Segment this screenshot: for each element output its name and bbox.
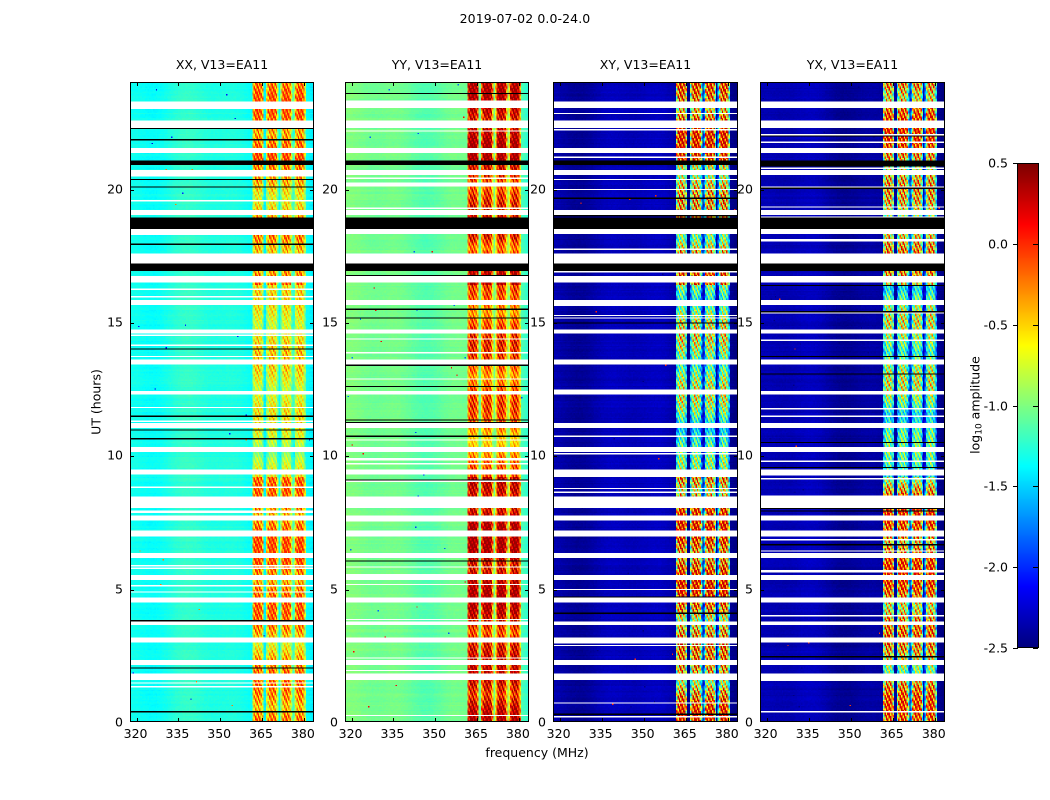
x-tick-top <box>519 82 520 86</box>
x-tick-top <box>435 82 436 86</box>
x-tick <box>935 718 936 722</box>
x-tick <box>686 718 687 722</box>
y-tick-right <box>310 590 314 591</box>
x-tick <box>519 718 520 722</box>
dynamic-spectrum-xy <box>554 83 737 721</box>
colorbar-tick-label: -0.5 <box>984 317 1008 332</box>
x-tick <box>178 718 179 722</box>
x-tick-top <box>767 82 768 86</box>
x-tick <box>602 718 603 722</box>
colorbar-tick-inner <box>1033 567 1038 568</box>
x-tick-top <box>686 82 687 86</box>
y-tick <box>760 456 764 457</box>
y-tick <box>553 456 557 457</box>
x-tick-top <box>602 82 603 86</box>
y-tick-right <box>941 456 945 457</box>
colorbar-tick-label: -1.5 <box>984 479 1008 494</box>
y-tick <box>130 456 134 457</box>
y-tick-label: 20 <box>107 181 123 196</box>
x-tick-label: 350 <box>631 726 655 741</box>
y-tick <box>130 323 134 324</box>
colorbar-tick <box>1013 325 1018 326</box>
x-tick-label: 365 <box>249 726 273 741</box>
y-tick-label: 0 <box>115 715 123 730</box>
x-tick-label: 335 <box>589 726 613 741</box>
y-tick <box>345 590 349 591</box>
y-tick-right <box>941 190 945 191</box>
y-tick-label: 0 <box>330 715 338 730</box>
x-tick-top <box>644 82 645 86</box>
x-tick-label: 320 <box>547 726 571 741</box>
x-tick-top <box>809 82 810 86</box>
y-tick-label: 5 <box>745 581 753 596</box>
y-tick-label: 20 <box>322 181 338 196</box>
x-tick <box>262 718 263 722</box>
colorbar-tick <box>1013 567 1018 568</box>
panel-title-yy: YY, V13=EA11 <box>345 57 529 72</box>
panel-xx[interactable]: XX, V13=EA1132033535036538005101520 <box>130 82 314 722</box>
x-tick-top <box>935 82 936 86</box>
x-tick <box>644 718 645 722</box>
x-tick-top <box>851 82 852 86</box>
x-tick <box>393 718 394 722</box>
y-tick <box>130 190 134 191</box>
x-tick <box>893 718 894 722</box>
x-tick <box>137 718 138 722</box>
y-tick-right <box>941 323 945 324</box>
panel-plot-area-xx <box>130 82 314 722</box>
y-tick-right <box>310 456 314 457</box>
y-tick-right <box>310 323 314 324</box>
y-tick-label: 15 <box>322 315 338 330</box>
x-tick <box>767 718 768 722</box>
y-tick-label: 10 <box>107 448 123 463</box>
y-tick-label: 0 <box>538 715 546 730</box>
colorbar-label-tail: amplitude <box>968 356 983 423</box>
x-tick <box>477 718 478 722</box>
panel-plot-area-yx <box>760 82 945 722</box>
y-tick-label: 20 <box>530 181 546 196</box>
x-tick <box>809 718 810 722</box>
x-tick-top <box>178 82 179 86</box>
x-tick-top <box>560 82 561 86</box>
y-tick-right <box>525 456 529 457</box>
colorbar-label-main: log <box>968 435 983 454</box>
y-tick-label: 5 <box>538 581 546 596</box>
y-tick <box>553 323 557 324</box>
colorbar-tick-inner <box>1033 244 1038 245</box>
panel-title-yx: YX, V13=EA11 <box>760 57 945 72</box>
y-tick-label: 0 <box>745 715 753 730</box>
y-tick-right <box>525 590 529 591</box>
y-tick-label: 5 <box>330 581 338 596</box>
panel-title-xy: XY, V13=EA11 <box>553 57 738 72</box>
x-tick-label: 335 <box>165 726 189 741</box>
y-axis-label: UT (hours) <box>89 369 104 435</box>
x-tick <box>304 718 305 722</box>
y-tick-label: 20 <box>737 181 753 196</box>
x-tick-top <box>137 82 138 86</box>
x-tick-label: 365 <box>673 726 697 741</box>
figure-title: 2019-07-02 0.0-24.0 <box>0 11 1050 26</box>
dynamic-spectrum-yx <box>761 83 944 721</box>
y-tick-label: 10 <box>530 448 546 463</box>
x-tick-label: 380 <box>715 726 739 741</box>
x-tick-label: 320 <box>124 726 148 741</box>
figure-canvas: 2019-07-02 0.0-24.0 UT (hours) frequency… <box>0 0 1050 800</box>
y-tick <box>760 323 764 324</box>
x-tick <box>560 718 561 722</box>
colorbar-tick <box>1013 406 1018 407</box>
x-tick-top <box>262 82 263 86</box>
x-tick-label: 365 <box>880 726 904 741</box>
x-tick-label: 380 <box>922 726 946 741</box>
y-tick <box>553 190 557 191</box>
dynamic-spectrum-yy <box>346 83 528 721</box>
y-tick-label: 15 <box>107 315 123 330</box>
x-tick-top <box>477 82 478 86</box>
y-tick-label: 15 <box>737 315 753 330</box>
y-tick-right <box>941 590 945 591</box>
y-tick <box>345 323 349 324</box>
x-tick-label: 380 <box>506 726 530 741</box>
colorbar-tick <box>1013 486 1018 487</box>
x-tick <box>435 718 436 722</box>
x-tick-top <box>893 82 894 86</box>
x-tick-top <box>352 82 353 86</box>
y-tick-right <box>525 323 529 324</box>
x-tick <box>352 718 353 722</box>
x-tick-label: 350 <box>838 726 862 741</box>
x-tick <box>851 718 852 722</box>
panel-yx[interactable]: YX, V13=EA1132033535036538005101520 <box>760 82 945 722</box>
x-tick <box>220 718 221 722</box>
y-tick <box>760 190 764 191</box>
x-tick-label: 380 <box>291 726 315 741</box>
x-tick-top <box>304 82 305 86</box>
colorbar-label: log10 amplitude <box>968 356 983 454</box>
y-tick-right <box>310 190 314 191</box>
panel-yy[interactable]: YY, V13=EA1132033535036538005101520 <box>345 82 529 722</box>
colorbar-tick-label: -2.5 <box>984 641 1008 656</box>
colorbar[interactable]: -2.5-2.0-1.5-1.0-0.50.00.5 <box>1017 163 1039 648</box>
colorbar-tick-inner <box>1033 325 1038 326</box>
panel-plot-area-xy <box>553 82 738 722</box>
y-tick-label: 15 <box>530 315 546 330</box>
colorbar-label-sub: 10 <box>975 423 985 434</box>
colorbar-tick-label: -2.0 <box>984 560 1008 575</box>
colorbar-tick-label: 0.0 <box>988 236 1008 251</box>
x-tick-label: 350 <box>207 726 231 741</box>
dynamic-spectrum-xx <box>131 83 313 721</box>
y-tick <box>553 590 557 591</box>
colorbar-tick-inner <box>1033 648 1038 649</box>
y-tick <box>760 590 764 591</box>
x-tick-label: 320 <box>754 726 778 741</box>
colorbar-tick-inner <box>1033 486 1038 487</box>
y-tick <box>345 190 349 191</box>
x-tick-label: 350 <box>422 726 446 741</box>
y-tick-right <box>525 190 529 191</box>
colorbar-tick <box>1013 163 1018 164</box>
colorbar-tick-inner <box>1033 406 1038 407</box>
y-tick <box>345 456 349 457</box>
y-tick <box>130 590 134 591</box>
colorbar-tick-label: -1.0 <box>984 398 1008 413</box>
y-tick-label: 5 <box>115 581 123 596</box>
y-tick-right <box>734 590 738 591</box>
x-tick <box>728 718 729 722</box>
x-tick-label: 335 <box>796 726 820 741</box>
colorbar-tick <box>1013 244 1018 245</box>
colorbar-tick <box>1013 648 1018 649</box>
y-tick-label: 10 <box>737 448 753 463</box>
x-tick-label: 335 <box>380 726 404 741</box>
x-tick-top <box>728 82 729 86</box>
colorbar-tick-label: 0.5 <box>988 156 1008 171</box>
x-tick-label: 320 <box>339 726 363 741</box>
panel-title-xx: XX, V13=EA11 <box>130 57 314 72</box>
panel-xy[interactable]: XY, V13=EA1132033535036538005101520 <box>553 82 738 722</box>
x-axis-label: frequency (MHz) <box>485 745 588 760</box>
x-tick-label: 365 <box>464 726 488 741</box>
panel-plot-area-yy <box>345 82 529 722</box>
x-tick-top <box>220 82 221 86</box>
colorbar-tick-inner <box>1033 163 1038 164</box>
x-tick-top <box>393 82 394 86</box>
y-tick-label: 10 <box>322 448 338 463</box>
